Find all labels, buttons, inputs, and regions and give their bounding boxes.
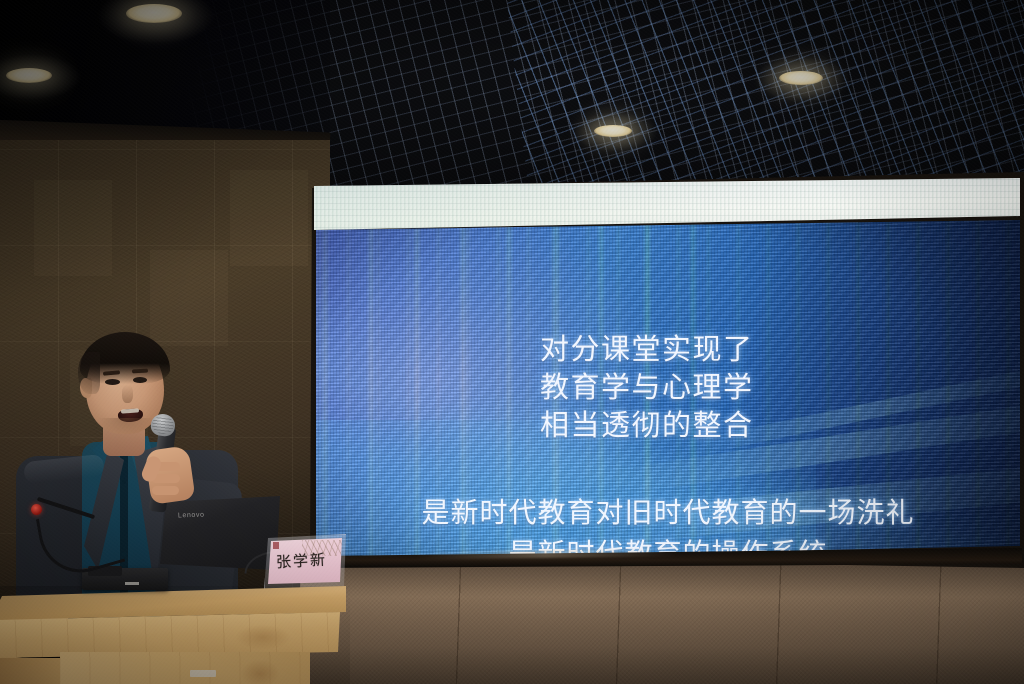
- nose: [122, 385, 133, 403]
- slide-line: 对分课堂实现了: [540, 330, 960, 368]
- slide-line: 相当透彻的整合: [540, 406, 960, 444]
- led-video-wall: 对分课堂实现了 教育学与心理学 相当透彻的整合 是新时代教育对旧时代教育的一场洗…: [296, 172, 1024, 572]
- name-card: 张学新: [266, 536, 344, 588]
- slide-stanza-top: 对分课堂实现了 教育学与心理学 相当透彻的整合: [540, 330, 960, 444]
- control-box-indicator: [125, 582, 139, 585]
- finger: [152, 486, 179, 495]
- back-wall-shading: [300, 560, 1024, 684]
- name-card-seal: [273, 542, 279, 549]
- slide-display[interactable]: 对分课堂实现了 教育学与心理学 相当透彻的整合 是新时代教育对旧时代教育的一场洗…: [316, 220, 1020, 560]
- eyebrow-right: [132, 369, 148, 374]
- back-wall-panels: [300, 560, 1024, 684]
- hair-side: [78, 352, 100, 394]
- chin-shadow: [100, 418, 152, 434]
- podium-shading: [0, 586, 350, 684]
- podium: [0, 586, 350, 684]
- presentation-photo-scene: 对分课堂实现了 教育学与心理学 相当透彻的整合 是新时代教育对旧时代教育的一场洗…: [0, 0, 1024, 684]
- gooseneck-mic-indicator-icon: [31, 504, 42, 515]
- shirt-button: [122, 516, 126, 520]
- eye-left: [105, 379, 120, 385]
- shirt-button: [122, 480, 126, 484]
- slide-line: 是新时代教育对旧时代教育的一场洗礼: [316, 492, 1020, 533]
- slide-text-layer: 对分课堂实现了 教育学与心理学 相当透彻的整合 是新时代教育对旧时代教育的一场洗…: [316, 220, 1020, 560]
- slide-line: 教育学与心理学: [540, 368, 960, 406]
- laptop-brand-label: Lenovo: [178, 512, 205, 520]
- name-card-name-text: 张学新: [275, 549, 327, 573]
- eye-right: [133, 377, 147, 383]
